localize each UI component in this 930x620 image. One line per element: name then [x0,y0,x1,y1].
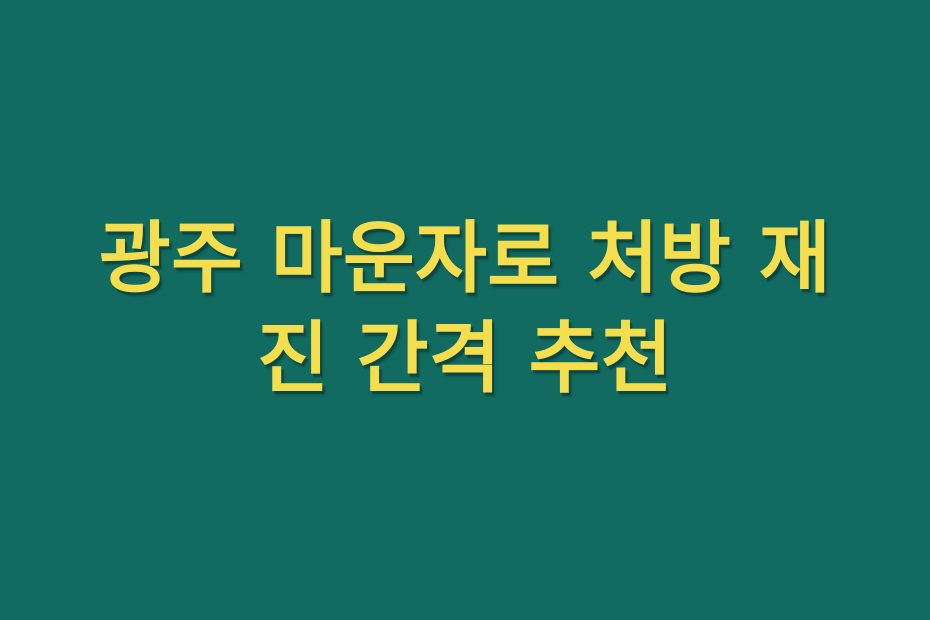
banner-canvas: 광주 마운자로 처방 재 진 간격 추천 [0,0,930,620]
headline-text: 광주 마운자로 처방 재 진 간격 추천 [85,210,845,410]
